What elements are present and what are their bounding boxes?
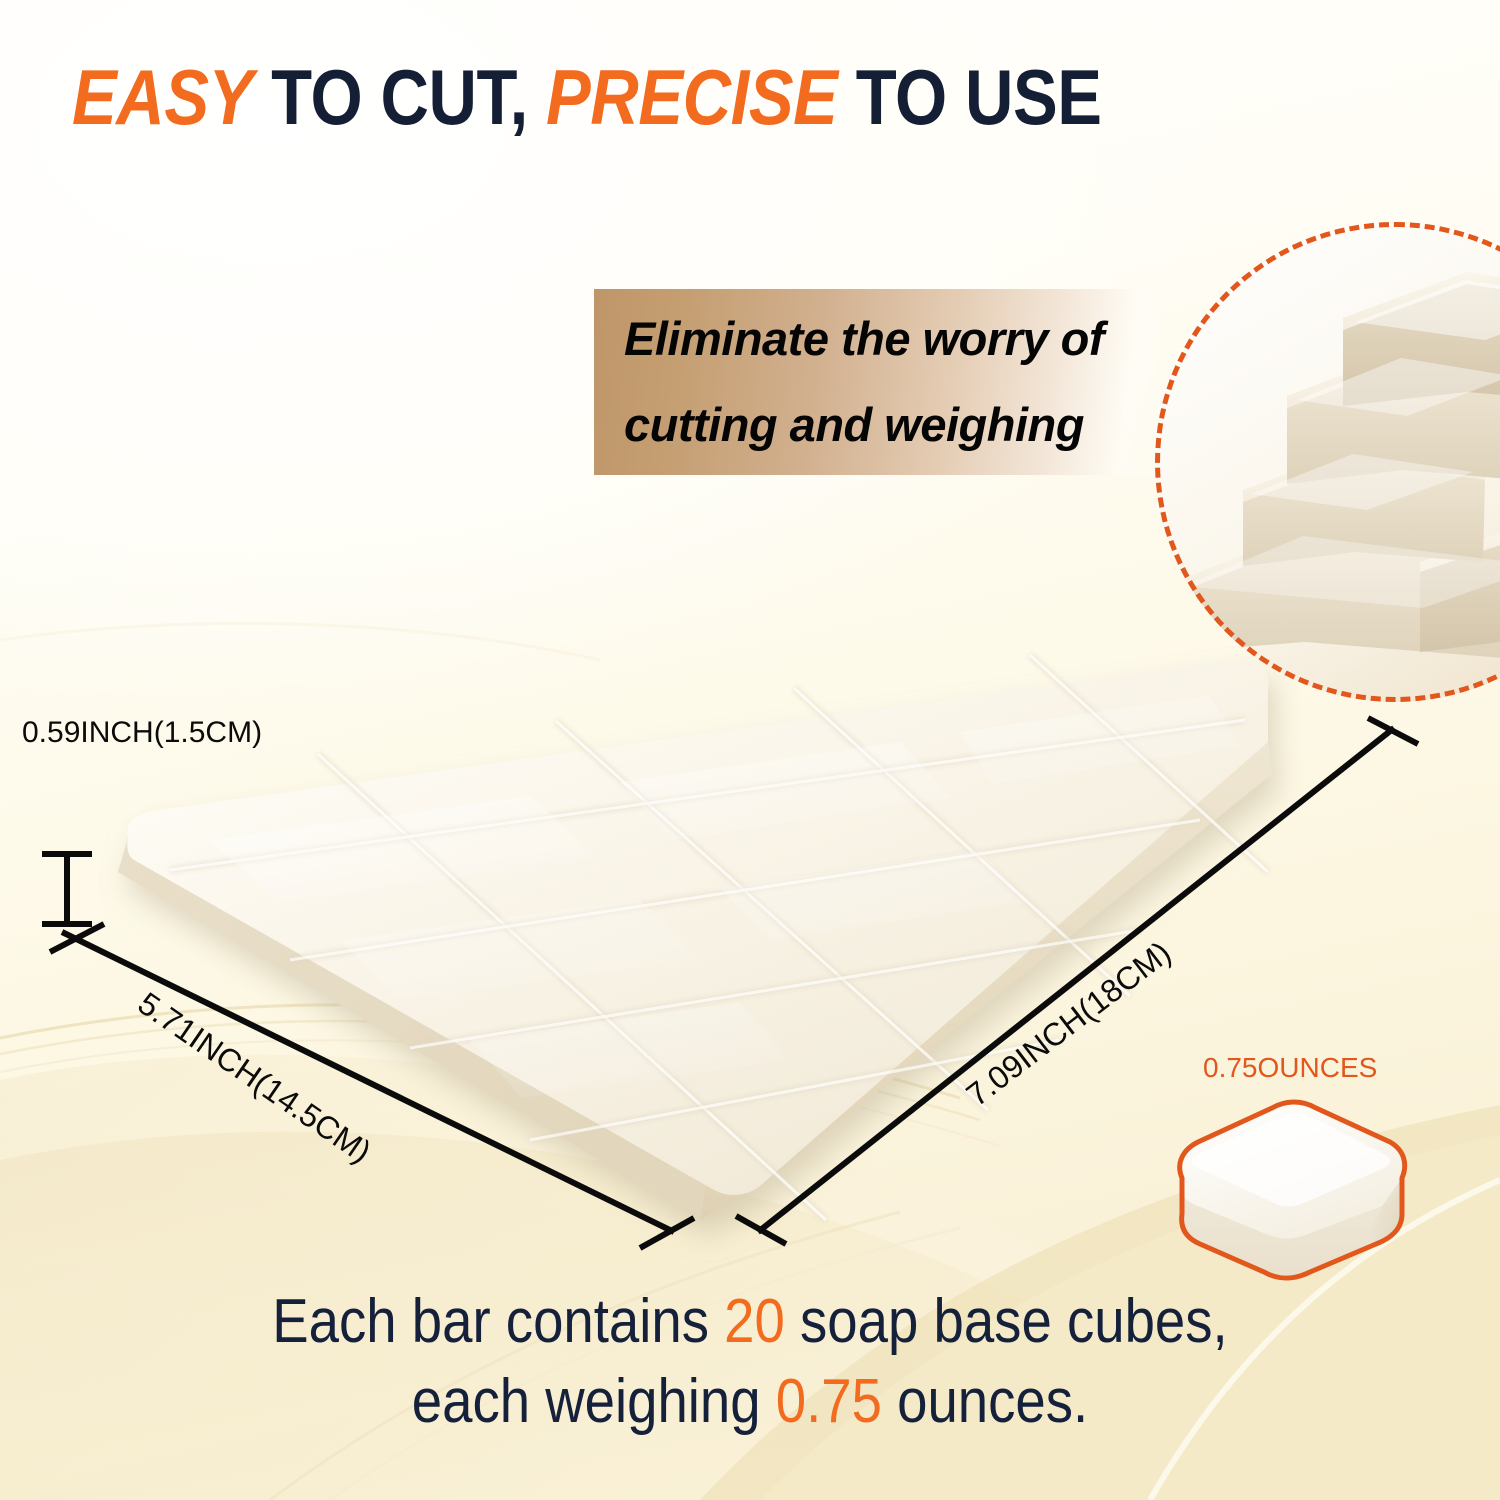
caption-cube-weight: 0.75 <box>776 1367 882 1436</box>
bottom-caption: Each bar contains 20 soap base cubes, ea… <box>0 1282 1500 1442</box>
headline-plain-to-cut: TO CUT, <box>253 53 546 141</box>
thickness-dimension-label: 0.59INCH(1.5CM) <box>22 716 262 750</box>
caption-2-post: ounces. <box>882 1367 1088 1436</box>
page-headline: EASY TO CUT, PRECISE TO USE <box>72 58 1102 136</box>
caption-1-post: soap base cubes, <box>785 1287 1228 1356</box>
callout-line-2: cutting and weighing <box>624 382 1160 468</box>
caption-1-pre: Each bar contains <box>272 1287 724 1356</box>
thickness-indicator <box>42 854 92 924</box>
caption-line-2: each weighing 0.75 ounces. <box>90 1362 1410 1442</box>
single-soap-cube-illustration <box>1168 1092 1416 1288</box>
headline-emphasis-easy: EASY <box>72 53 253 141</box>
caption-line-1: Each bar contains 20 soap base cubes, <box>90 1282 1410 1362</box>
cube-weight-label: 0.75OUNCES <box>1203 1052 1377 1084</box>
caption-2-pre: each weighing <box>412 1367 776 1436</box>
callout-line-1: Eliminate the worry of <box>624 296 1160 382</box>
product-infographic: EASY TO CUT, PRECISE TO USE Eliminate th… <box>0 0 1500 1500</box>
caption-cube-count: 20 <box>724 1287 785 1356</box>
headline-emphasis-precise: PRECISE <box>546 53 837 141</box>
callout-banner: Eliminate the worry of cutting and weigh… <box>594 289 1160 475</box>
headline-plain-to-use: TO USE <box>837 53 1101 141</box>
